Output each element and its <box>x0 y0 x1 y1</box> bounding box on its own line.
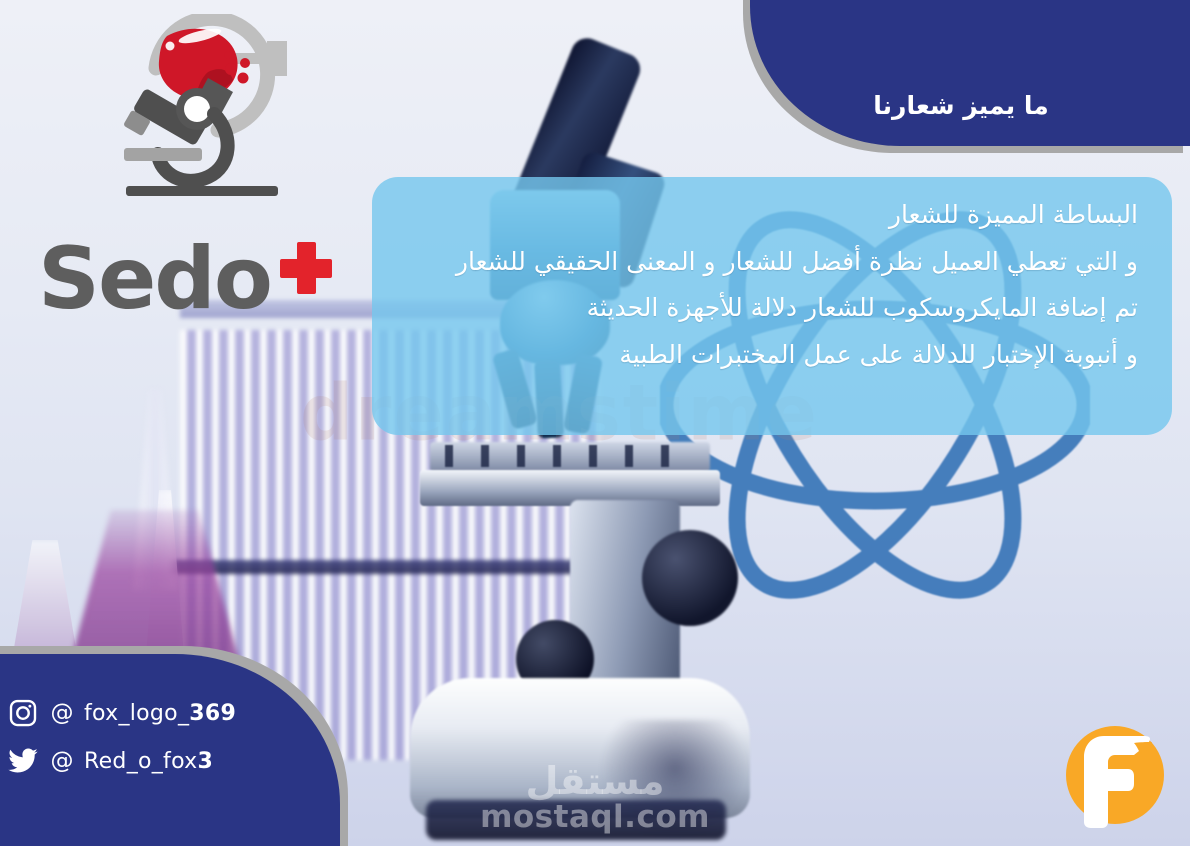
social-item-twitter[interactable]: @ Red_o_fox3 <box>6 744 340 778</box>
brand-wordmark: Sedo <box>38 236 271 322</box>
coarse-focus-knob <box>642 530 738 626</box>
description-line-2: و التي تعطي العميل نظرة أفضل للشعار و ال… <box>406 242 1138 283</box>
description-line-4: و أنبوبة الإختبار للدلالة على عمل المختب… <box>406 335 1138 376</box>
description-line-1: البساطة المميزة للشعار <box>406 195 1138 236</box>
instagram-handle[interactable]: fox_logo_369 <box>84 701 236 726</box>
microscope-photo <box>390 30 790 846</box>
instagram-icon[interactable] <box>6 696 40 730</box>
microscope-stage-controls <box>445 445 695 467</box>
microscope-with-blood-drop-icon <box>104 14 304 229</box>
fox-f-logo-icon[interactable] <box>1058 718 1172 832</box>
at-symbol: @ <box>50 702 74 725</box>
description-card: البساطة المميزة للشعار و التي تعطي العمي… <box>372 177 1172 435</box>
twitter-bird-icon[interactable] <box>6 744 40 778</box>
medical-cross-icon <box>280 242 332 294</box>
poster-canvas: dreamstime ما يميز شعارنا البساطة المميز… <box>0 0 1190 846</box>
social-item-instagram[interactable]: @ fox_logo_369 <box>6 696 340 730</box>
twitter-handle[interactable]: Red_o_fox3 <box>84 749 213 774</box>
description-line-3: تم إضافة المايكروسكوب للشعار دلالة للأجه… <box>406 288 1138 329</box>
at-symbol: @ <box>50 750 74 773</box>
brand-logo: Sedo <box>18 14 338 314</box>
microscope-foot <box>426 800 726 840</box>
page-title: ما يميز شعارنا <box>873 91 1066 120</box>
